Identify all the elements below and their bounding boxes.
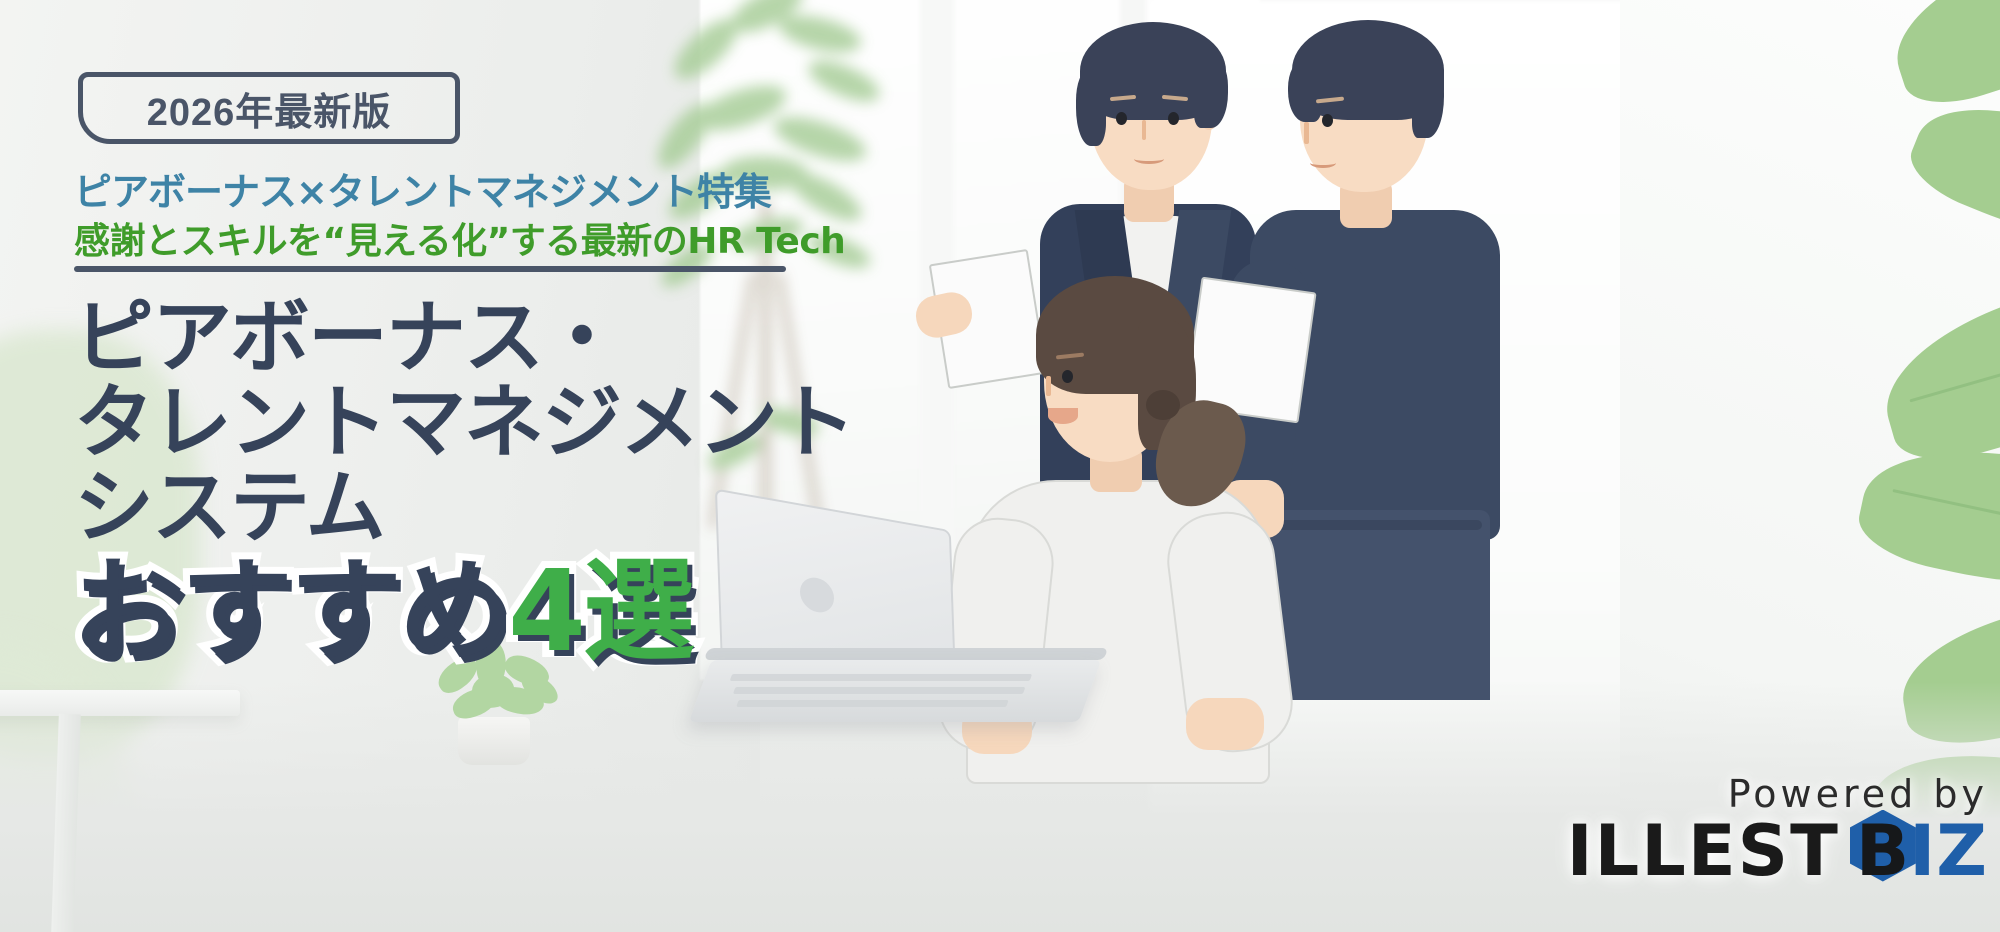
divider-rule bbox=[74, 266, 786, 272]
page-title: ピアボーナス・ タレントマネジメント システム bbox=[74, 296, 934, 550]
side-table bbox=[0, 690, 240, 716]
headline-line-2: タレントマネジメント bbox=[74, 381, 934, 466]
brand-logo: Powered by ILLEST BIZ bbox=[1567, 772, 1988, 885]
headline-line-1: ピアボーナス・ bbox=[74, 296, 934, 381]
laptop-hinge bbox=[704, 648, 1108, 660]
subtitle-primary: ピアボーナス×タレントマネジメント特集 bbox=[74, 161, 771, 216]
emphasis-osusume: おすすめ bbox=[72, 547, 508, 677]
banner-canvas: 2026年最新版 ピアボーナス×タレントマネジメント特集 感謝とスキルを“見える… bbox=[0, 0, 2000, 932]
logo-wordmark: ILLEST BIZ bbox=[1567, 818, 1988, 885]
seated-woman-laptop bbox=[940, 250, 1360, 810]
year-badge: 2026年最新版 bbox=[78, 72, 460, 144]
laptop-base bbox=[689, 660, 1102, 722]
headline-line-3: システム bbox=[74, 466, 934, 551]
subtitle-secondary: 感謝とスキルを“見える化”する最新のHR Tech bbox=[74, 212, 845, 264]
logo-illest: ILLEST bbox=[1567, 818, 1840, 885]
recommendation-emphasis: おすすめ4選 bbox=[72, 556, 692, 668]
emphasis-count: 4選 bbox=[508, 547, 692, 677]
logo-iz: IZ bbox=[1909, 810, 1988, 892]
logo-biz: BIZ bbox=[1856, 818, 1988, 885]
powered-by-label: Powered by bbox=[1567, 772, 1988, 816]
logo-b: B bbox=[1856, 810, 1909, 892]
